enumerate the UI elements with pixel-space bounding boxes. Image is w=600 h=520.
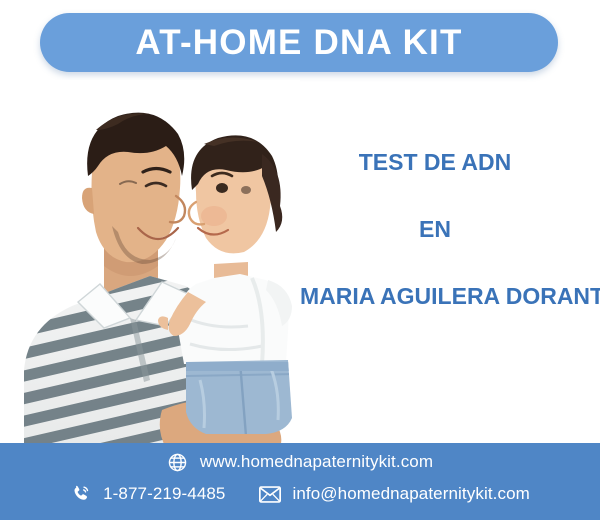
footer-website[interactable]: www.homednapaternitykit.com (167, 451, 433, 473)
headline-line-1: TEST DE ADN (300, 150, 570, 174)
footer-email-label: info@homednapaternitykit.com (292, 484, 529, 504)
footer-website-row: www.homednapaternitykit.com (0, 451, 600, 473)
father-holding-toddler-photo (0, 80, 300, 448)
phone-icon (70, 483, 92, 505)
photo-illustration (0, 80, 300, 448)
poster-root: AT-HOME DNA KIT (0, 0, 600, 520)
footer-email[interactable]: info@homednapaternitykit.com (259, 483, 529, 505)
globe-icon (167, 451, 189, 473)
main-text-block: TEST DE ADN EN MARIA AGUILERA DORANTES (300, 150, 570, 308)
footer-contact-row: 1-877-219-4485 info@homednapaternitykit.… (0, 483, 600, 505)
header-banner: AT-HOME DNA KIT (40, 13, 558, 72)
footer-bar: www.homednapaternitykit.com 1-877-219-44… (0, 443, 600, 520)
headline-line-2: EN (300, 217, 570, 241)
footer-phone-label: 1-877-219-4485 (103, 484, 225, 504)
footer-phone[interactable]: 1-877-219-4485 (70, 483, 225, 505)
footer-website-label: www.homednapaternitykit.com (200, 452, 433, 472)
envelope-icon (259, 483, 281, 505)
page-title: AT-HOME DNA KIT (135, 25, 462, 60)
headline-location: MARIA AGUILERA DORANTES (300, 284, 570, 308)
